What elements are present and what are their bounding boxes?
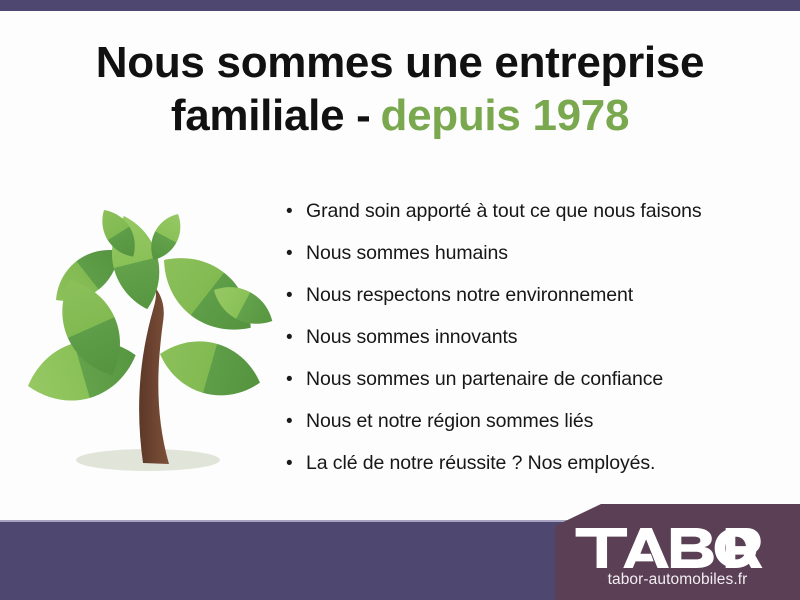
bullet-marker-icon: • xyxy=(286,359,306,401)
list-item: • Nous respectons notre environnement xyxy=(286,274,756,316)
list-item-label: Nous et notre région sommes liés xyxy=(306,400,593,442)
list-item-label: Nous respectons notre environnement xyxy=(306,274,633,316)
brand-logo: tabor-automobiles.fr xyxy=(555,504,800,600)
list-item-label: Nous sommes un partenaire de confiance xyxy=(306,358,663,400)
list-item: • La clé de notre réussite ? Nos employé… xyxy=(286,442,756,484)
slide-headline: Nous sommes une entreprise familiale -de… xyxy=(0,36,800,142)
list-item-label: Nous sommes humains xyxy=(306,232,508,274)
headline-line-2-accent: depuis 1978 xyxy=(381,91,630,140)
brand-tagline: tabor-automobiles.fr xyxy=(608,571,748,589)
bullet-marker-icon: • xyxy=(286,191,306,233)
list-item: • Grand soin apporté à tout ce que nous … xyxy=(286,190,756,232)
tabor-wordmark-icon xyxy=(575,528,781,568)
list-item: • Nous sommes un partenaire de confiance xyxy=(286,358,756,400)
list-item-label: Grand soin apporté à tout ce que nous fa… xyxy=(306,190,702,232)
tree-trunk xyxy=(139,284,169,464)
bullet-marker-icon: • xyxy=(286,443,306,485)
list-item: • Nous et notre région sommes liés xyxy=(286,400,756,442)
list-item: • Nous sommes humains xyxy=(286,232,756,274)
tree-illustration xyxy=(18,188,274,494)
headline-line-2: familiale -depuis 1978 xyxy=(0,89,800,142)
list-item-label: Nous sommes innovants xyxy=(306,316,517,358)
bullet-marker-icon: • xyxy=(286,233,306,275)
value-bullet-list: • Grand soin apporté à tout ce que nous … xyxy=(286,190,756,484)
headline-line-2-plain: familiale - xyxy=(171,91,371,140)
brand-logo-plate: tabor-automobiles.fr xyxy=(555,504,800,600)
bullet-marker-icon: • xyxy=(286,317,306,359)
list-item: • Nous sommes innovants xyxy=(286,316,756,358)
slide-canvas: Nous sommes une entreprise familiale -de… xyxy=(0,0,800,600)
list-item-label: La clé de notre réussite ? Nos employés. xyxy=(306,442,655,484)
bullet-marker-icon: • xyxy=(286,401,306,443)
bullet-marker-icon: • xyxy=(286,275,306,317)
headline-line-1: Nous sommes une entreprise xyxy=(0,36,800,89)
top-accent-band xyxy=(0,0,800,11)
